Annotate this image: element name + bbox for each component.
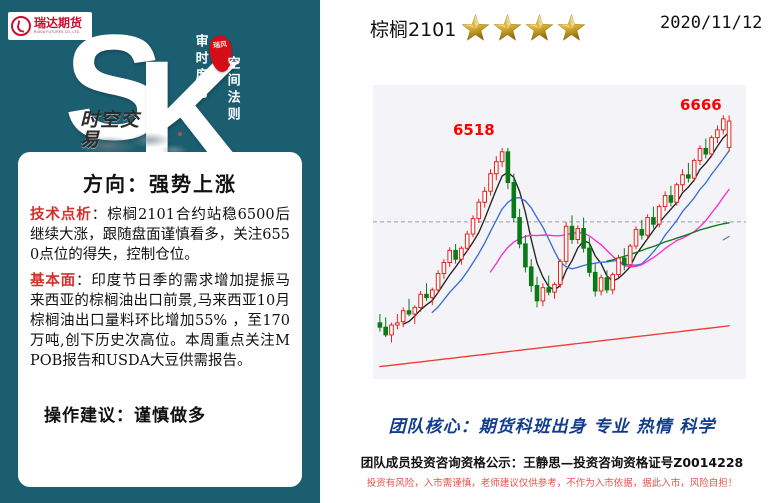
ink-red-dot-icon <box>178 132 182 136</box>
seal-text: 瑞风 <box>208 35 231 51</box>
candlestick-chart <box>373 85 746 379</box>
section-technical-separator: ： <box>92 207 107 223</box>
section-fundamental: 基本面：印度节日季的需求增加提振马来西亚的棕榈油出口前景,马来西亚10月棕榈油出… <box>30 271 290 371</box>
risk-disclaimer: 投资有风险，入市需谨慎，老师建议仅供参考，不作为入市依据，据此入市，风险自担！ <box>330 475 774 489</box>
contract-symbol: 棕榈2101 <box>370 15 456 42</box>
certification-notice: 团队成员投资咨询资格公示：王静思—投资咨询资格证号Z0014228 <box>330 452 774 471</box>
operation-advice: 操作建议：谨慎做多 <box>30 401 290 426</box>
section-technical-keyword: 技术点析 <box>30 206 92 223</box>
vertical-slogan-left: 审时度势 <box>194 34 208 102</box>
gold-star-icon <box>556 13 587 44</box>
star-rating <box>460 13 587 44</box>
section-fundamental-keyword: 基本面 <box>30 272 76 289</box>
spiral-logo-icon <box>11 16 31 36</box>
direction-heading: 方向：强势上涨 <box>30 168 290 197</box>
annotation-high-6666: 6666 <box>680 96 722 114</box>
annotation-high-6518: 6518 <box>453 121 495 139</box>
monogram-calligraphy: 时空交易 <box>80 110 142 150</box>
section-fundamental-separator: ： <box>76 273 91 289</box>
vertical-slogan-right: 空间法则 <box>226 56 240 124</box>
gold-star-icon <box>524 13 555 44</box>
left-branding-panel: 瑞达期货 RUIDA FUTURES CO.,LTD. S K 时空交易 瑞风 … <box>0 0 320 503</box>
screenshot-root: 瑞达期货 RUIDA FUTURES CO.,LTD. S K 时空交易 瑞风 … <box>0 0 774 503</box>
gold-star-icon <box>492 13 523 44</box>
team-motto: 团队核心：期货科班出身 专业 热情 科学 <box>330 412 774 437</box>
gold-star-icon <box>460 13 491 44</box>
report-date: 2020/11/12 <box>660 13 762 33</box>
candlestick-chart-svg <box>373 85 746 379</box>
section-technical: 技术点析：棕榈2101合约站稳6500后继续大涨，跟随盘面谨慎看多，关注6550… <box>30 205 290 265</box>
analysis-card: 方向：强势上涨 技术点析：棕榈2101合约站稳6500后继续大涨，跟随盘面谨慎看… <box>18 152 302 487</box>
